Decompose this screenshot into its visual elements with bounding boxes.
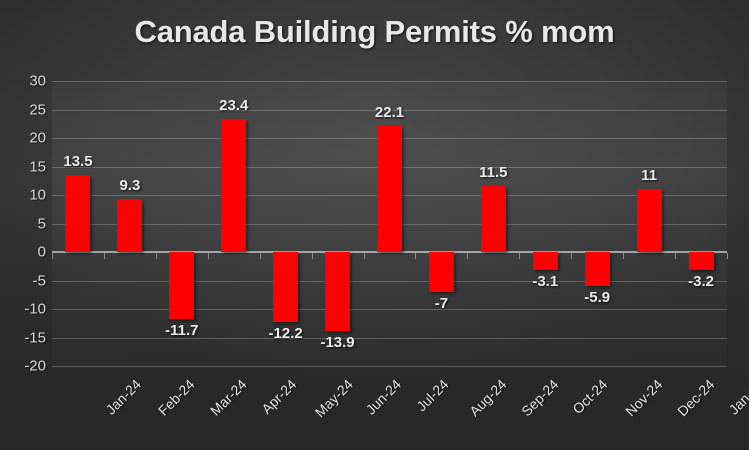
data-label: 23.4: [219, 97, 248, 114]
x-axis-category-label: Jan-24: [102, 376, 144, 418]
x-axis-category-label: Jan-25: [726, 376, 749, 418]
x-axis-tick: [623, 253, 624, 259]
y-axis-tick-label: 5: [2, 215, 46, 232]
bar[interactable]: [689, 252, 714, 270]
bar[interactable]: [481, 186, 506, 252]
x-axis-category-label: Feb-24: [155, 376, 198, 419]
chart-container: Canada Building Permits % mom 3025201510…: [0, 0, 749, 450]
y-axis: 302520151050-5-10-15-20: [0, 81, 46, 366]
data-label: -5.9: [584, 289, 610, 306]
bar[interactable]: [221, 119, 246, 252]
y-axis-tick-label: -20: [2, 358, 46, 375]
bar[interactable]: [637, 189, 662, 252]
x-axis-tick: [519, 253, 520, 259]
bar[interactable]: [533, 252, 558, 270]
x-axis-category-label: Mar-24: [207, 376, 250, 419]
data-label: 11: [641, 167, 657, 184]
gridline: [52, 81, 727, 82]
x-axis-category-label: Jul-24: [413, 376, 451, 414]
y-axis-tick-label: 30: [2, 73, 46, 90]
x-axis-tick: [467, 253, 468, 259]
data-label: 22.1: [375, 104, 404, 121]
x-axis-tick: [52, 253, 53, 259]
y-axis-tick-label: 0: [2, 244, 46, 261]
x-axis-category-label: May-24: [311, 376, 355, 420]
bar[interactable]: [169, 252, 194, 319]
x-axis-tick: [364, 253, 365, 259]
y-axis-tick-label: -5: [2, 272, 46, 289]
x-axis-category-label: Dec-24: [674, 376, 717, 419]
data-label: -11.7: [165, 322, 198, 339]
data-label: -7: [435, 295, 448, 312]
data-label: 13.5: [63, 153, 92, 170]
gridline: [52, 338, 727, 339]
x-axis-tick: [571, 253, 572, 259]
data-label: -12.2: [269, 325, 303, 342]
bar[interactable]: [273, 252, 298, 322]
data-label: 11.5: [479, 164, 507, 181]
y-axis-tick-label: 25: [2, 101, 46, 118]
x-axis-category-label: Sep-24: [519, 376, 562, 419]
x-axis-tick: [208, 253, 209, 259]
gridline: [52, 281, 727, 282]
plot-area: 13.59.3-11.723.4-12.2-13.922.1-711.5-3.1…: [52, 81, 727, 366]
x-axis-tick: [260, 253, 261, 259]
x-axis-category-label: Jun-24: [362, 376, 404, 418]
gridline: [52, 309, 727, 310]
bar[interactable]: [377, 126, 402, 252]
x-axis-tick: [727, 253, 728, 259]
y-axis-tick-label: 15: [2, 158, 46, 175]
bar[interactable]: [117, 199, 142, 252]
x-axis-category-label: Nov-24: [622, 376, 665, 419]
x-axis-tick: [675, 253, 676, 259]
x-axis-category-label: Apr-24: [258, 376, 299, 417]
y-axis-tick-label: -10: [2, 301, 46, 318]
x-axis-tick: [415, 253, 416, 259]
bar[interactable]: [429, 252, 454, 292]
x-axis-tick: [312, 253, 313, 259]
bar[interactable]: [585, 252, 610, 286]
data-label: -3.2: [688, 273, 714, 290]
bar[interactable]: [325, 252, 350, 331]
y-axis-tick-label: 20: [2, 130, 46, 147]
chart-title: Canada Building Permits % mom: [0, 14, 749, 50]
x-axis-tick: [104, 253, 105, 259]
data-label: -3.1: [532, 273, 558, 290]
y-axis-tick-label: -15: [2, 329, 46, 346]
y-axis-tick-label: 10: [2, 187, 46, 204]
data-label: -13.9: [320, 334, 354, 351]
x-axis-category-label: Oct-24: [570, 376, 611, 417]
gridline: [52, 366, 727, 367]
data-label: 9.3: [119, 177, 140, 194]
bar[interactable]: [65, 175, 90, 252]
x-axis-tick: [156, 253, 157, 259]
x-axis-category-label: Aug-24: [467, 376, 510, 419]
